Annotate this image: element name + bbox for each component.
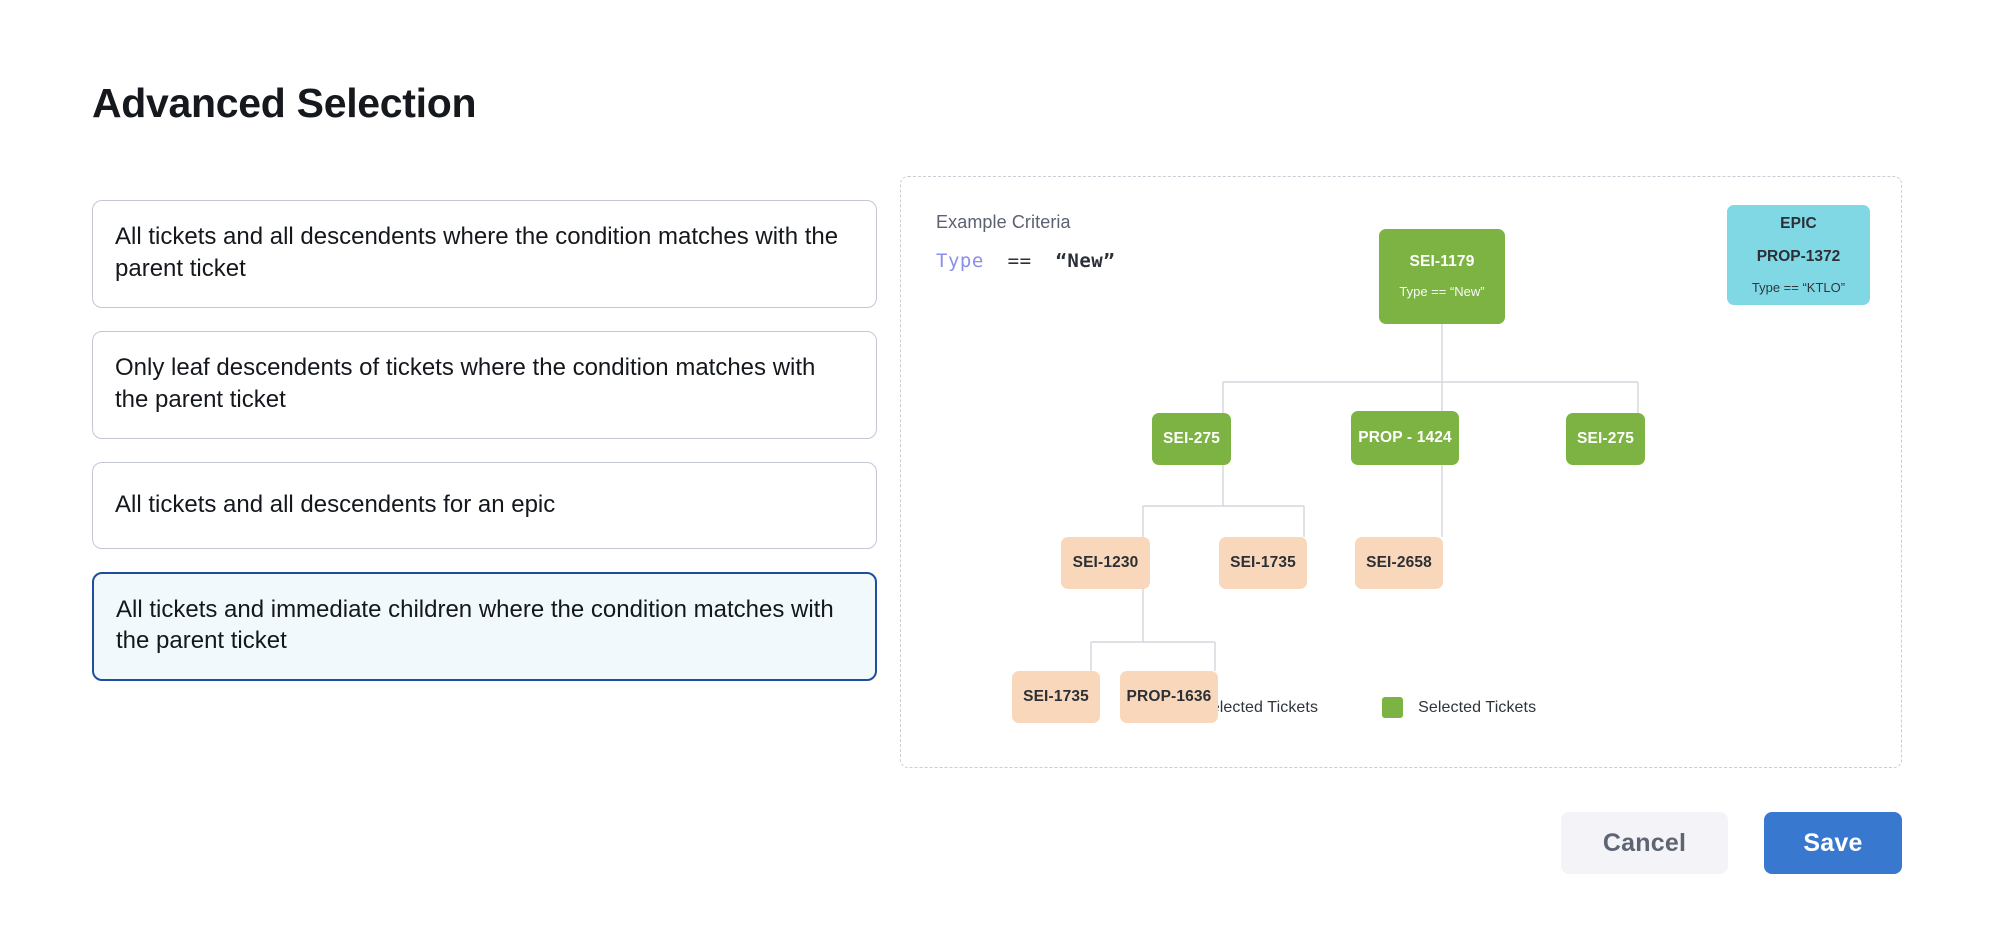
node-id: PROP - 1424 [1358, 429, 1452, 448]
node-id: SEI-1735 [1023, 688, 1089, 707]
advanced-selection-page: Advanced Selection All tickets and all d… [0, 0, 1994, 934]
criteria-expression: Type == “New” [936, 250, 1115, 272]
node-id: PROP-1636 [1127, 688, 1212, 707]
node-id: SEI-1179 [1410, 253, 1475, 272]
node-id: SEI-275 [1577, 430, 1634, 449]
diagram-node-sei-1735-leaf[interactable]: SEI-1735 [1012, 671, 1100, 723]
page-title: Advanced Selection [92, 79, 476, 128]
criteria-operator: == [1008, 250, 1032, 272]
node-id: SEI-275 [1163, 430, 1220, 449]
diagram-node-prop-1424[interactable]: PROP - 1424 [1351, 411, 1459, 465]
legend-swatch-icon [1382, 697, 1403, 718]
selection-option-leaf-descendents-condition[interactable]: Only leaf descendents of tickets where t… [92, 331, 877, 439]
criteria-label: Example Criteria [936, 212, 1115, 233]
save-button[interactable]: Save [1764, 812, 1902, 874]
option-label: Only leaf descendents of tickets where t… [115, 352, 854, 416]
option-label: All tickets and all descendents for an e… [115, 489, 854, 521]
diagram-node-sei-275-right[interactable]: SEI-275 [1566, 413, 1645, 465]
option-label: All tickets and immediate children where… [116, 594, 853, 658]
node-id: SEI-1735 [1230, 554, 1296, 573]
cancel-button[interactable]: Cancel [1561, 812, 1728, 874]
node-id: SEI-1230 [1073, 554, 1139, 573]
dialog-footer: Cancel Save [1561, 812, 1902, 874]
diagram-node-sei-275-left[interactable]: SEI-275 [1152, 413, 1231, 465]
epic-condition: Type == “KTLO” [1752, 280, 1845, 296]
selection-option-all-descendents-condition[interactable]: All tickets and all descendents where th… [92, 200, 877, 308]
diagram-node-sei-1179[interactable]: SEI-1179 Type == “New” [1379, 229, 1505, 324]
selection-option-immediate-children-condition[interactable]: All tickets and immediate children where… [92, 572, 877, 682]
legend-label: Selected Tickets [1418, 699, 1536, 717]
selection-options-list: All tickets and all descendents where th… [92, 200, 877, 704]
node-id: SEI-2658 [1366, 554, 1432, 573]
option-label: All tickets and all descendents where th… [115, 221, 854, 285]
criteria-value: “New” [1055, 250, 1115, 272]
criteria-block: Example Criteria Type == “New” [936, 212, 1115, 272]
diagram-node-prop-1636[interactable]: PROP-1636 [1120, 671, 1218, 723]
node-condition: Type == “New” [1399, 284, 1484, 300]
legend-item-selected: Selected Tickets [1382, 697, 1536, 718]
diagram-node-sei-1735-mid[interactable]: SEI-1735 [1219, 537, 1307, 589]
diagram-node-sei-1230[interactable]: SEI-1230 [1061, 537, 1150, 589]
diagram-node-sei-2658[interactable]: SEI-2658 [1355, 537, 1443, 589]
selection-option-all-descendents-epic[interactable]: All tickets and all descendents for an e… [92, 462, 877, 549]
criteria-keyword: Type [936, 250, 984, 272]
diagram-node-epic[interactable]: EPIC PROP-1372 Type == “KTLO” [1727, 205, 1870, 305]
epic-kind: EPIC [1780, 215, 1817, 234]
epic-id: PROP-1372 [1757, 248, 1841, 266]
example-diagram-panel: Example Criteria Type == “New” [900, 176, 1902, 768]
